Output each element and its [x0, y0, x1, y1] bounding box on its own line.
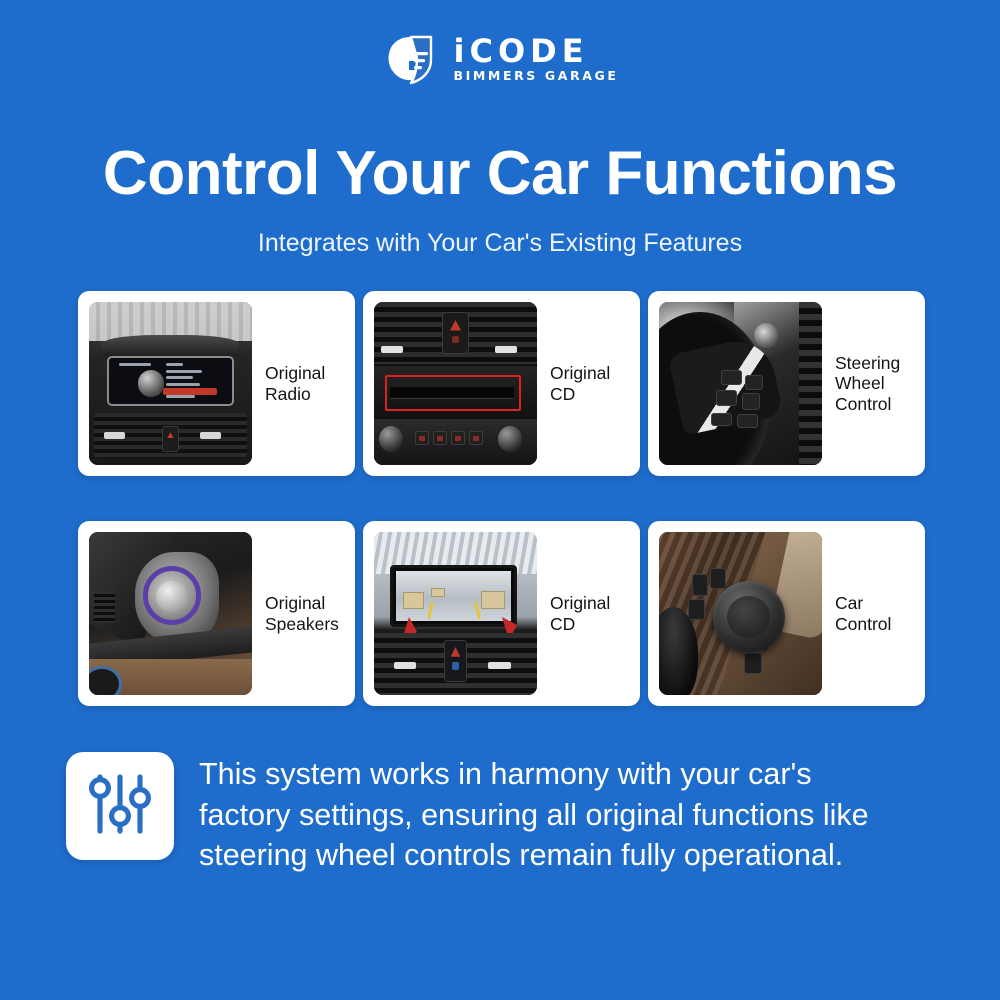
- footer-description: This system works in harmony with your c…: [199, 752, 899, 876]
- page-title: Control Your Car Functions: [0, 142, 1000, 206]
- sliders-settings-icon-tile: [66, 752, 174, 860]
- feature-card-label: Original Radio: [265, 363, 344, 404]
- page-subtitle: Integrates with Your Car's Existing Feat…: [0, 228, 1000, 258]
- feature-card-car-control[interactable]: Car Control: [648, 521, 925, 706]
- brand-name: iCODE: [453, 35, 618, 67]
- feature-card-steering-wheel-control[interactable]: Steering Wheel Control: [648, 291, 925, 476]
- car-cd-slot-highlighted-red-image: [374, 302, 537, 465]
- brand-tagline: BIMMERS GARAGE: [453, 70, 618, 83]
- idrive-rotary-controller-image: [659, 532, 822, 695]
- feature-card-label: Steering Wheel Control: [835, 353, 914, 415]
- feature-card-original-cd[interactable]: Original CD: [363, 291, 640, 476]
- feature-card-grid: Original Radio Original CD: [78, 291, 924, 706]
- car-head-unit-radio-screen-image: [89, 302, 252, 465]
- icode-shield-g-logo-icon: [381, 30, 439, 88]
- feature-card-label: Original CD: [550, 593, 629, 634]
- feature-card-original-radio[interactable]: Original Radio: [78, 291, 355, 476]
- footer-callout: This system works in harmony with your c…: [66, 752, 946, 876]
- feature-card-original-speakers[interactable]: Original Speakers: [78, 521, 355, 706]
- feature-card-label: Car Control: [835, 593, 914, 634]
- cd-slot-highlight-box: [385, 375, 520, 411]
- steering-wheel-buttons-image: [659, 302, 822, 465]
- brand-header: iCODE BIMMERS GARAGE: [0, 30, 1000, 88]
- feature-card-label: Original Speakers: [265, 593, 344, 634]
- brand-text-block: iCODE BIMMERS GARAGE: [453, 35, 618, 83]
- reverse-camera-display-screen-image: [374, 532, 537, 695]
- feature-card-original-cd-camera[interactable]: Original CD: [363, 521, 640, 706]
- sliders-settings-icon: [87, 771, 153, 842]
- feature-card-label: Original CD: [550, 363, 629, 404]
- dashboard-tweeter-speaker-image: [89, 532, 252, 695]
